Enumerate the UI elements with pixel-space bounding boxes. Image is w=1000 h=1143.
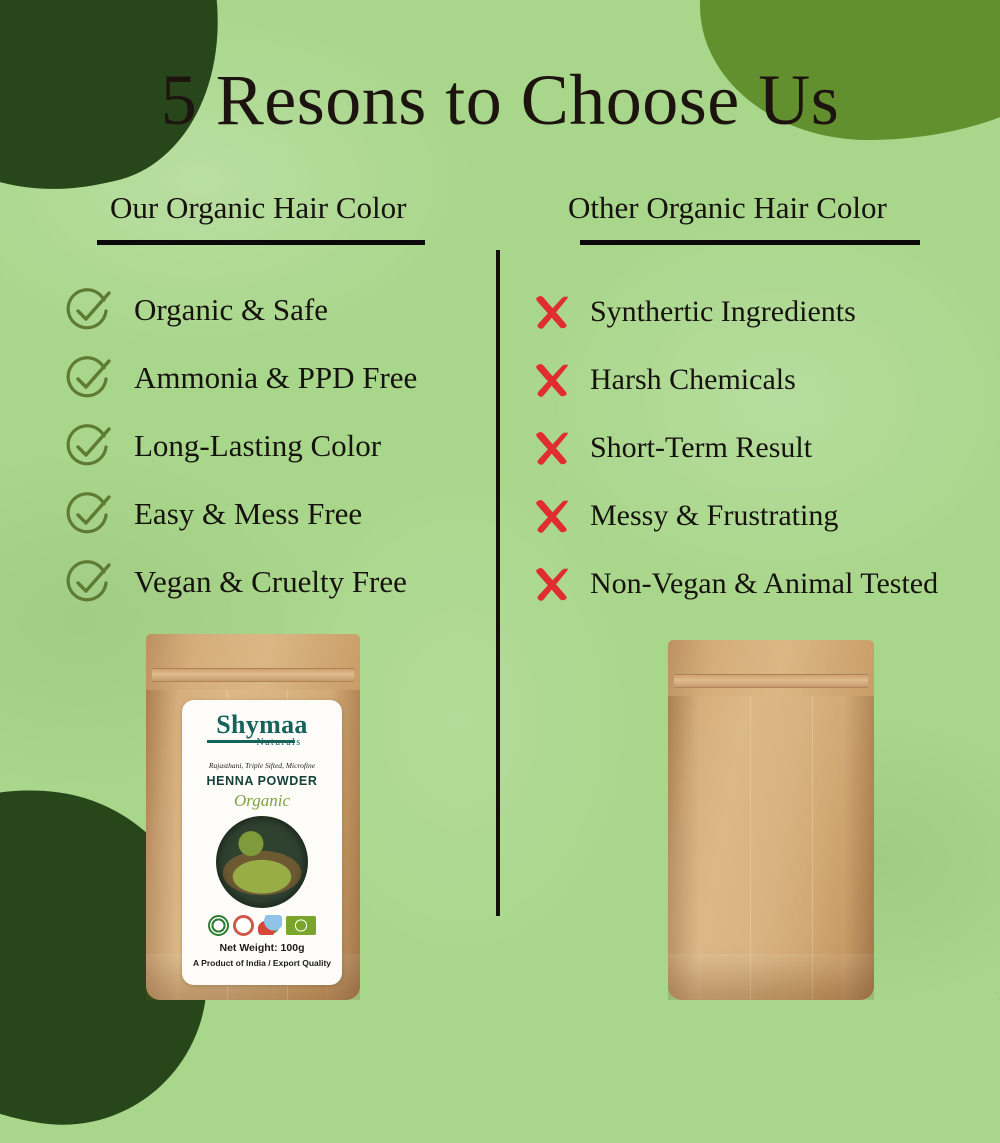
list-item: Synthertic Ingredients: [530, 278, 992, 346]
ecocert-badge: [233, 915, 254, 936]
henna-powder-bowl-photo: [216, 816, 308, 908]
check-circle-icon: [64, 490, 112, 538]
brand-name: Shymaa: [216, 712, 307, 738]
list-item: Messy & Frustrating: [530, 482, 992, 550]
list-item: Easy & Mess Free: [64, 480, 494, 548]
list-item-label: Long-Lasting Color: [134, 428, 381, 464]
list-item-label: Short-Term Result: [590, 431, 812, 465]
list-item: Vegan & Cruelty Free: [64, 548, 494, 616]
list-item: Ammonia & PPD Free: [64, 344, 494, 412]
column-heading-rule-right: [580, 240, 920, 245]
cross-x-icon: [530, 426, 574, 470]
list-item-label: Easy & Mess Free: [134, 496, 362, 532]
product-type: HENNA POWDER: [207, 774, 318, 788]
check-circle-icon: [64, 422, 112, 470]
usda-organic-badge: [208, 915, 229, 936]
product-pouch-branded[interactable]: Shymaa Naturals Rajasthani, Triple Sifte…: [146, 634, 360, 1000]
list-item-label: Vegan & Cruelty Free: [134, 564, 407, 600]
list-item-label: Harsh Chemicals: [590, 363, 796, 397]
cross-x-icon: [530, 290, 574, 334]
column-heading-rule-left: [97, 240, 425, 245]
pouch-zipper: [152, 668, 353, 682]
list-item: Harsh Chemicals: [530, 346, 992, 414]
list-item-label: Non-Vegan & Animal Tested: [590, 567, 938, 601]
list-item-label: Synthertic Ingredients: [590, 295, 856, 329]
page-title: 5 Resons to Choose Us: [0, 64, 1000, 136]
list-item: Long-Lasting Color: [64, 412, 494, 480]
drawbacks-list-others: Synthertic Ingredients Harsh Chemicals S…: [530, 278, 992, 618]
benefits-list-ours: Organic & Safe Ammonia & PPD Free Long-L…: [64, 276, 494, 616]
list-item: Organic & Safe: [64, 276, 494, 344]
pouch-bottom-gusset: [668, 954, 874, 1000]
column-heading-others: Other Organic Hair Color: [568, 190, 887, 226]
list-item-label: Ammonia & PPD Free: [134, 360, 417, 396]
list-item: Short-Term Result: [530, 414, 992, 482]
check-circle-icon: [64, 286, 112, 334]
cross-x-icon: [530, 562, 574, 606]
list-item-label: Messy & Frustrating: [590, 499, 838, 533]
net-weight-text: Net Weight: 100g: [220, 942, 305, 954]
product-label: Shymaa Naturals Rajasthani, Triple Sifte…: [182, 700, 342, 985]
list-item: Non-Vegan & Animal Tested: [530, 550, 992, 618]
pouch-zipper: [674, 674, 868, 688]
check-circle-icon: [64, 558, 112, 606]
product-pouch-plain[interactable]: [668, 640, 874, 1000]
cross-x-icon: [530, 494, 574, 538]
check-circle-icon: [64, 354, 112, 402]
column-heading-ours: Our Organic Hair Color: [110, 190, 406, 226]
india-organic-badge: [258, 915, 282, 935]
certification-badges: [208, 915, 316, 936]
eu-organic-leaf-badge: [286, 916, 316, 935]
origin-text: A Product of India / Export Quality: [193, 958, 331, 968]
cross-x-icon: [530, 358, 574, 402]
pouch-body: [668, 640, 874, 1000]
list-item-label: Organic & Safe: [134, 292, 328, 328]
column-divider: [496, 250, 500, 916]
product-organic-word: Organic: [234, 791, 290, 811]
product-tagline: Rajasthani, Triple Sifted, Microfine: [209, 761, 315, 770]
brand-subtitle: Naturals: [256, 737, 301, 748]
